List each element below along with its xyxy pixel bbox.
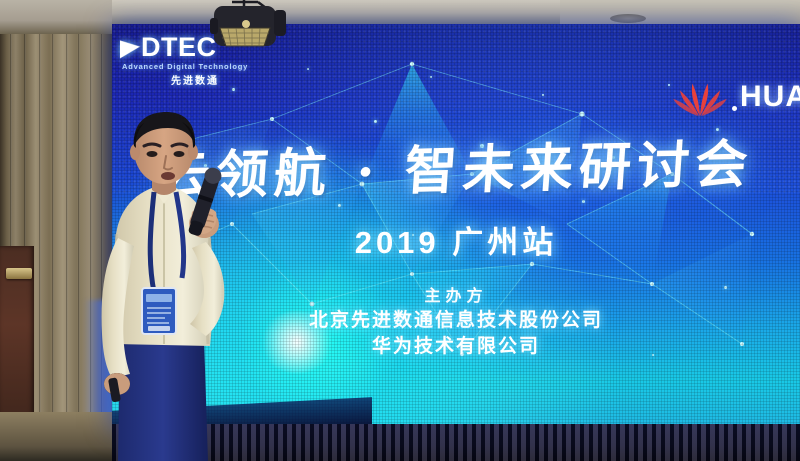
speaker-person bbox=[86, 112, 256, 461]
dtec-swoosh-triangle-icon bbox=[120, 37, 140, 58]
door-handle-icon[interactable] bbox=[6, 268, 32, 279]
dtec-chinese-name: 先进数通 bbox=[120, 72, 270, 87]
ceiling-spotlight-icon bbox=[200, 0, 296, 60]
left-ceiling bbox=[0, 0, 112, 34]
huawei-wordmark: HUA bbox=[740, 80, 800, 114]
dtec-tagline: Advanced Digital Technology bbox=[120, 62, 290, 71]
ceiling-vent-icon bbox=[610, 14, 646, 23]
huawei-logo: HUA bbox=[671, 76, 800, 118]
huawei-flower-icon bbox=[671, 76, 729, 118]
screenshot-root: DTEC Advanced Digital Technology 先进数通 HU… bbox=[0, 0, 800, 461]
huawei-separator-dot bbox=[732, 106, 737, 111]
